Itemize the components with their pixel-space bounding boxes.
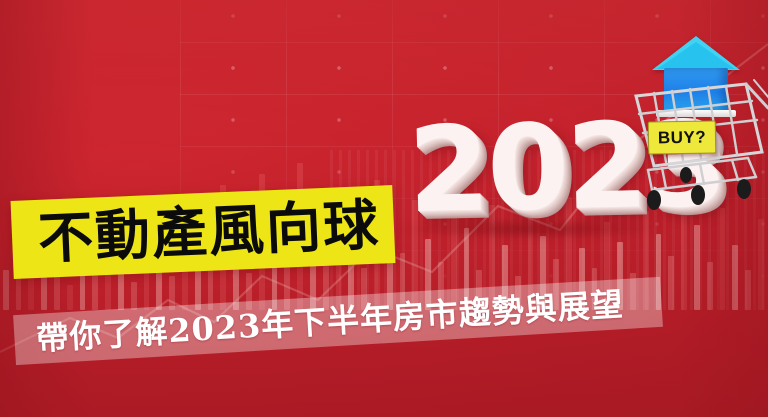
house-roof-inner (657, 42, 735, 69)
title-banner: 不動產風向球 (11, 185, 396, 279)
page-title: 不動產風向球 (37, 197, 381, 266)
buy-sign-label: BUY? (658, 127, 707, 148)
buy-sign-icon: BUY? (648, 120, 717, 154)
shopping-cart-scene: BUY? (628, 18, 768, 223)
promo-banner: 2023 (0, 0, 768, 417)
